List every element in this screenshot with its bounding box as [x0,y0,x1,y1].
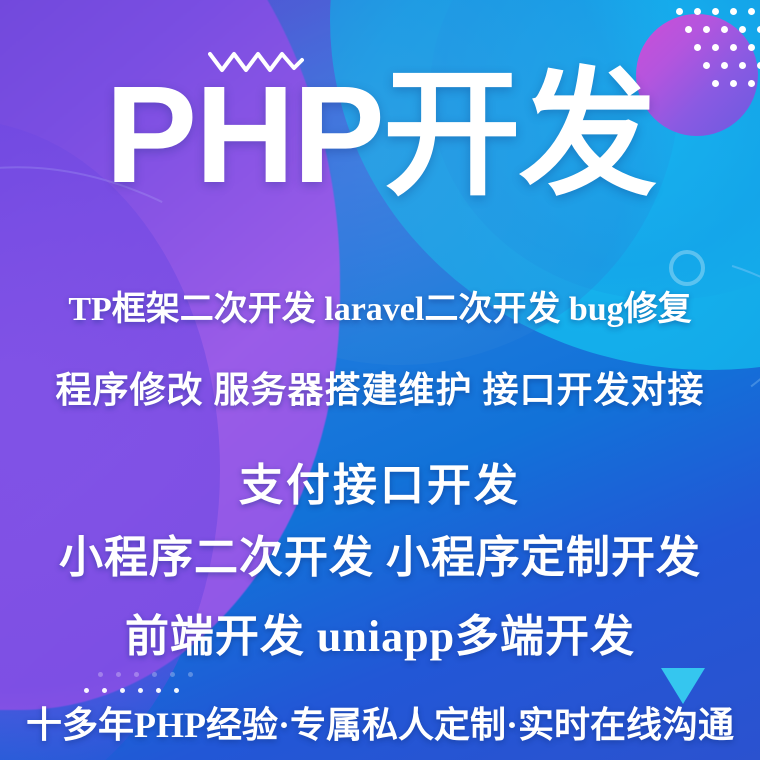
poster-content: PHP开发 TP框架二次开发 laravel二次开发 bug修复 程序修改 服务… [0,0,760,760]
footer-tagline: 十多年PHP经验·专属私人定制·实时在线沟通 [0,696,760,748]
service-line-maintenance: 程序修改 服务器搭建维护 接口开发对接 [0,361,760,413]
service-line-miniprogram: 小程序二次开发 小程序定制开发 [0,521,760,585]
service-line-payment: 支付接口开发 [0,449,760,513]
service-line-frontend: 前端开发 uniapp多端开发 [0,600,760,664]
service-line-frameworks: TP框架二次开发 laravel二次开发 bug修复 [0,281,760,330]
poster-canvas: PHP开发 TP框架二次开发 laravel二次开发 bug修复 程序修改 服务… [0,0,760,760]
page-title: PHP开发 [0,66,760,204]
